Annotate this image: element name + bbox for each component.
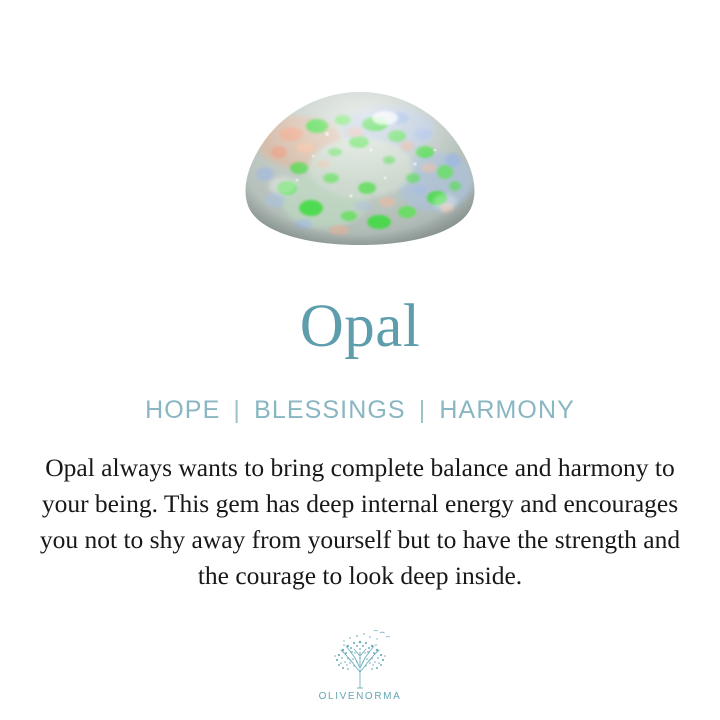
keyword-blessings: BLESSINGS xyxy=(254,396,406,424)
keyword-harmony: HARMONY xyxy=(439,396,574,424)
gemstone-info-card: Opal HOPE | BLESSINGS | HARMONY Opal alw… xyxy=(0,0,720,720)
brand-logo: OLIVENORMA xyxy=(300,628,420,702)
keyword-separator-1: | xyxy=(228,396,246,424)
tree-of-life-icon xyxy=(317,628,403,690)
keyword-separator-2: | xyxy=(414,396,432,424)
gemstone-title: Opal xyxy=(0,296,720,358)
brand-wordmark: OLIVENORMA xyxy=(319,691,402,702)
gemstone-keywords: HOPE | BLESSINGS | HARMONY xyxy=(0,396,720,425)
keyword-hope: HOPE xyxy=(145,396,220,424)
description-text: Opal always wants to bring complete bala… xyxy=(24,450,696,594)
gemstone-description: Opal always wants to bring complete bala… xyxy=(24,450,696,594)
gem-stage xyxy=(239,90,481,248)
gem-image-container xyxy=(0,0,720,270)
opal-gemstone-image xyxy=(239,90,481,248)
